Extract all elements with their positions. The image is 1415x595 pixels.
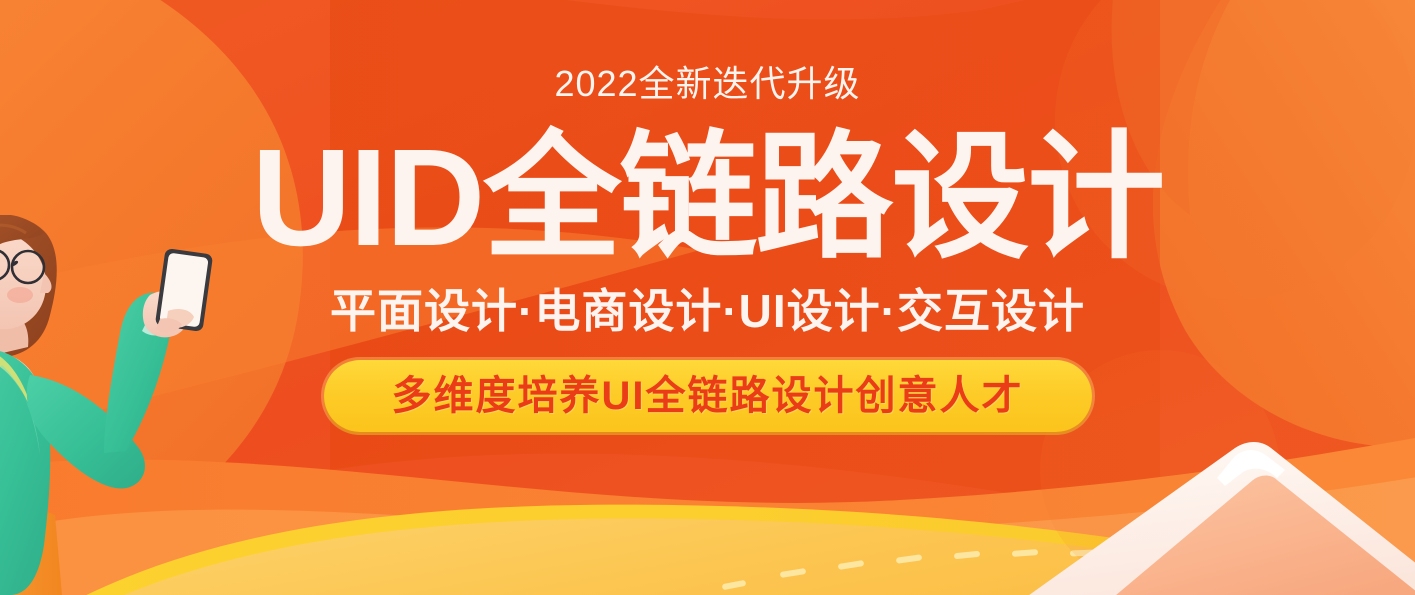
promo-banner: 2022全新迭代升级 UID全链路设计 平面设计·电商设计·UI设计·交互设计 … (0, 0, 1415, 595)
cta-pill-button[interactable]: 多维度培养UI全链路设计创意人才 (324, 360, 1092, 432)
eyebrow-text: 2022全新迭代升级 (0, 62, 1415, 106)
cta-pill-wrapper: 多维度培养UI全链路设计创意人才 (0, 360, 1415, 432)
cta-pill-label: 多维度培养UI全链路设计创意人才 (392, 374, 1024, 418)
tilted-tablet-illustration (985, 420, 1415, 595)
page-title: UID全链路设计 (0, 130, 1415, 266)
banner-content: 2022全新迭代升级 UID全链路设计 平面设计·电商设计·UI设计·交互设计 … (0, 0, 1415, 432)
tablet-illustration-svg (985, 420, 1415, 595)
subtitle-text: 平面设计·电商设计·UI设计·交互设计 (0, 284, 1415, 338)
